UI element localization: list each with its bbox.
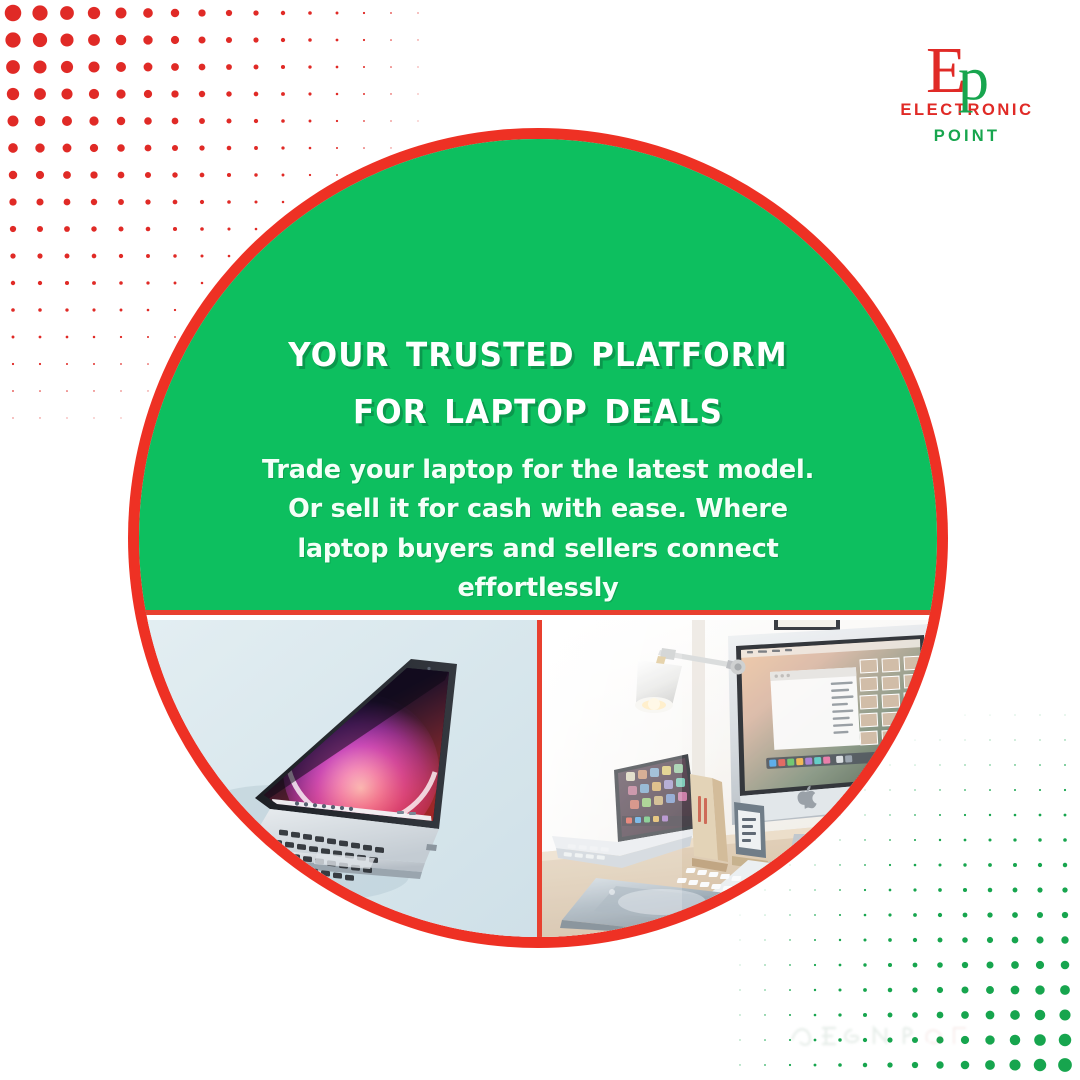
logo-wordmark-point: POINT <box>892 128 1042 145</box>
headline-panel: Your Trusted Platform for Laptop Deals T… <box>139 139 937 615</box>
photo-strip <box>139 620 937 937</box>
page-title: Your Trusted Platform for Laptop Deals <box>247 322 830 437</box>
desk-setup-photo <box>542 620 937 937</box>
brand-logo: E p ELECTRONIC POINT <box>892 42 1042 144</box>
badge-inner-disc: Your Trusted Platform for Laptop Deals T… <box>139 139 937 937</box>
logo-monogram: E p <box>892 42 1042 104</box>
promo-poster: Your Trusted Platform for Laptop Deals T… <box>0 0 1080 1080</box>
logo-letter-p: p <box>958 48 989 110</box>
laptop-product-photo <box>139 620 537 937</box>
circular-badge: Your Trusted Platform for Laptop Deals T… <box>128 128 948 948</box>
subheadline-text: Trade your laptop for the latest model. … <box>248 451 828 609</box>
watermark-smudge <box>778 1018 1008 1052</box>
